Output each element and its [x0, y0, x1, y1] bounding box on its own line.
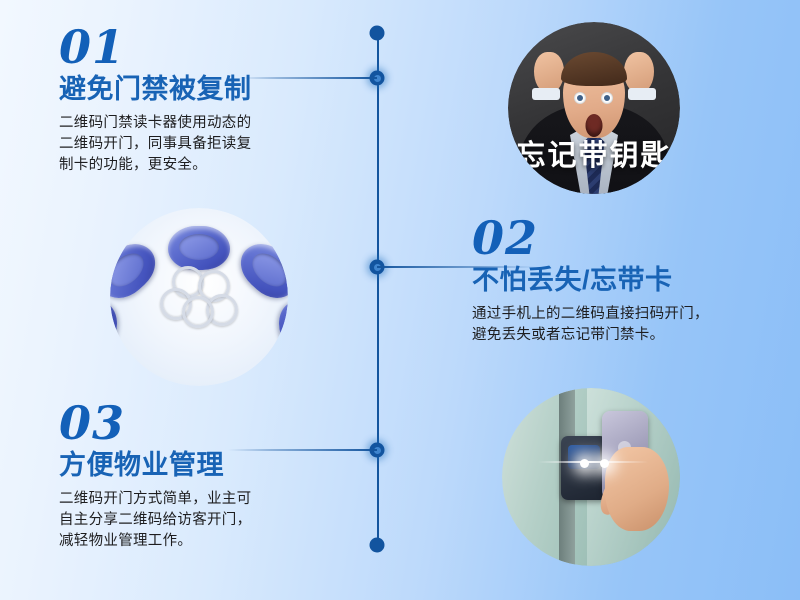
section-01-description: 二维码门禁读卡器使用动态的 二维码开门，同事具备拒读复 制卡的功能，更安全。 [59, 113, 359, 176]
photo-man-caption: 忘记带钥匙 [508, 132, 680, 174]
section-02-number: 02 [472, 215, 792, 261]
light-flare-streak [538, 461, 648, 463]
man-eye-left [574, 92, 586, 104]
section-02-description: 通过手机上的二维码直接扫码开门， 避免丢失或者忘记带门禁卡。 [472, 304, 792, 346]
section-01: 01 避免门禁被复制 二维码门禁读卡器使用动态的 二维码开门，同事具备拒读复 制… [59, 24, 359, 176]
man-eye-right [601, 92, 613, 104]
man-hand-left [534, 52, 564, 92]
section-02-heading: 不怕丢失/忘带卡 [472, 265, 792, 297]
section-03-number: 03 [59, 400, 359, 446]
section-03-heading: 方便物业管理 [59, 450, 359, 482]
section-03: 03 方便物业管理 二维码开门方式简单，业主可 自主分享二维码给访客开门， 减轻… [59, 400, 359, 552]
section-02: 02 不怕丢失/忘带卡 通过手机上的二维码直接扫码开门， 避免丢失或者忘记带门禁… [472, 215, 792, 346]
split-ring [182, 296, 214, 328]
photo-keyfobs-image [110, 208, 288, 386]
timeline-axis [377, 33, 379, 548]
timeline-dot-top [370, 26, 385, 41]
hand-palm [605, 447, 669, 531]
photo-rfid-keyfobs [110, 208, 288, 386]
section-03-description: 二维码开门方式简单，业主可 自主分享二维码给访客开门， 减轻物业管理工作。 [59, 489, 359, 552]
photo-man-image: 忘记带钥匙 [508, 22, 680, 194]
keyfob [168, 226, 230, 270]
section-01-number: 01 [59, 24, 359, 70]
man-cuff-left [532, 88, 560, 100]
man-hand-right [624, 52, 654, 92]
timeline-dot-bottom [370, 538, 385, 553]
photo-scan-image [502, 388, 680, 566]
qr-reader-device [561, 436, 607, 500]
man-cuff-right [628, 88, 656, 100]
photo-man-forgot-keys: 忘记带钥匙 [508, 22, 680, 194]
section-01-heading: 避免门禁被复制 [59, 74, 359, 106]
photo-phone-qr-scan [502, 388, 680, 566]
poster-root: 01 避免门禁被复制 二维码门禁读卡器使用动态的 二维码开门，同事具备拒读复 制… [0, 0, 800, 600]
